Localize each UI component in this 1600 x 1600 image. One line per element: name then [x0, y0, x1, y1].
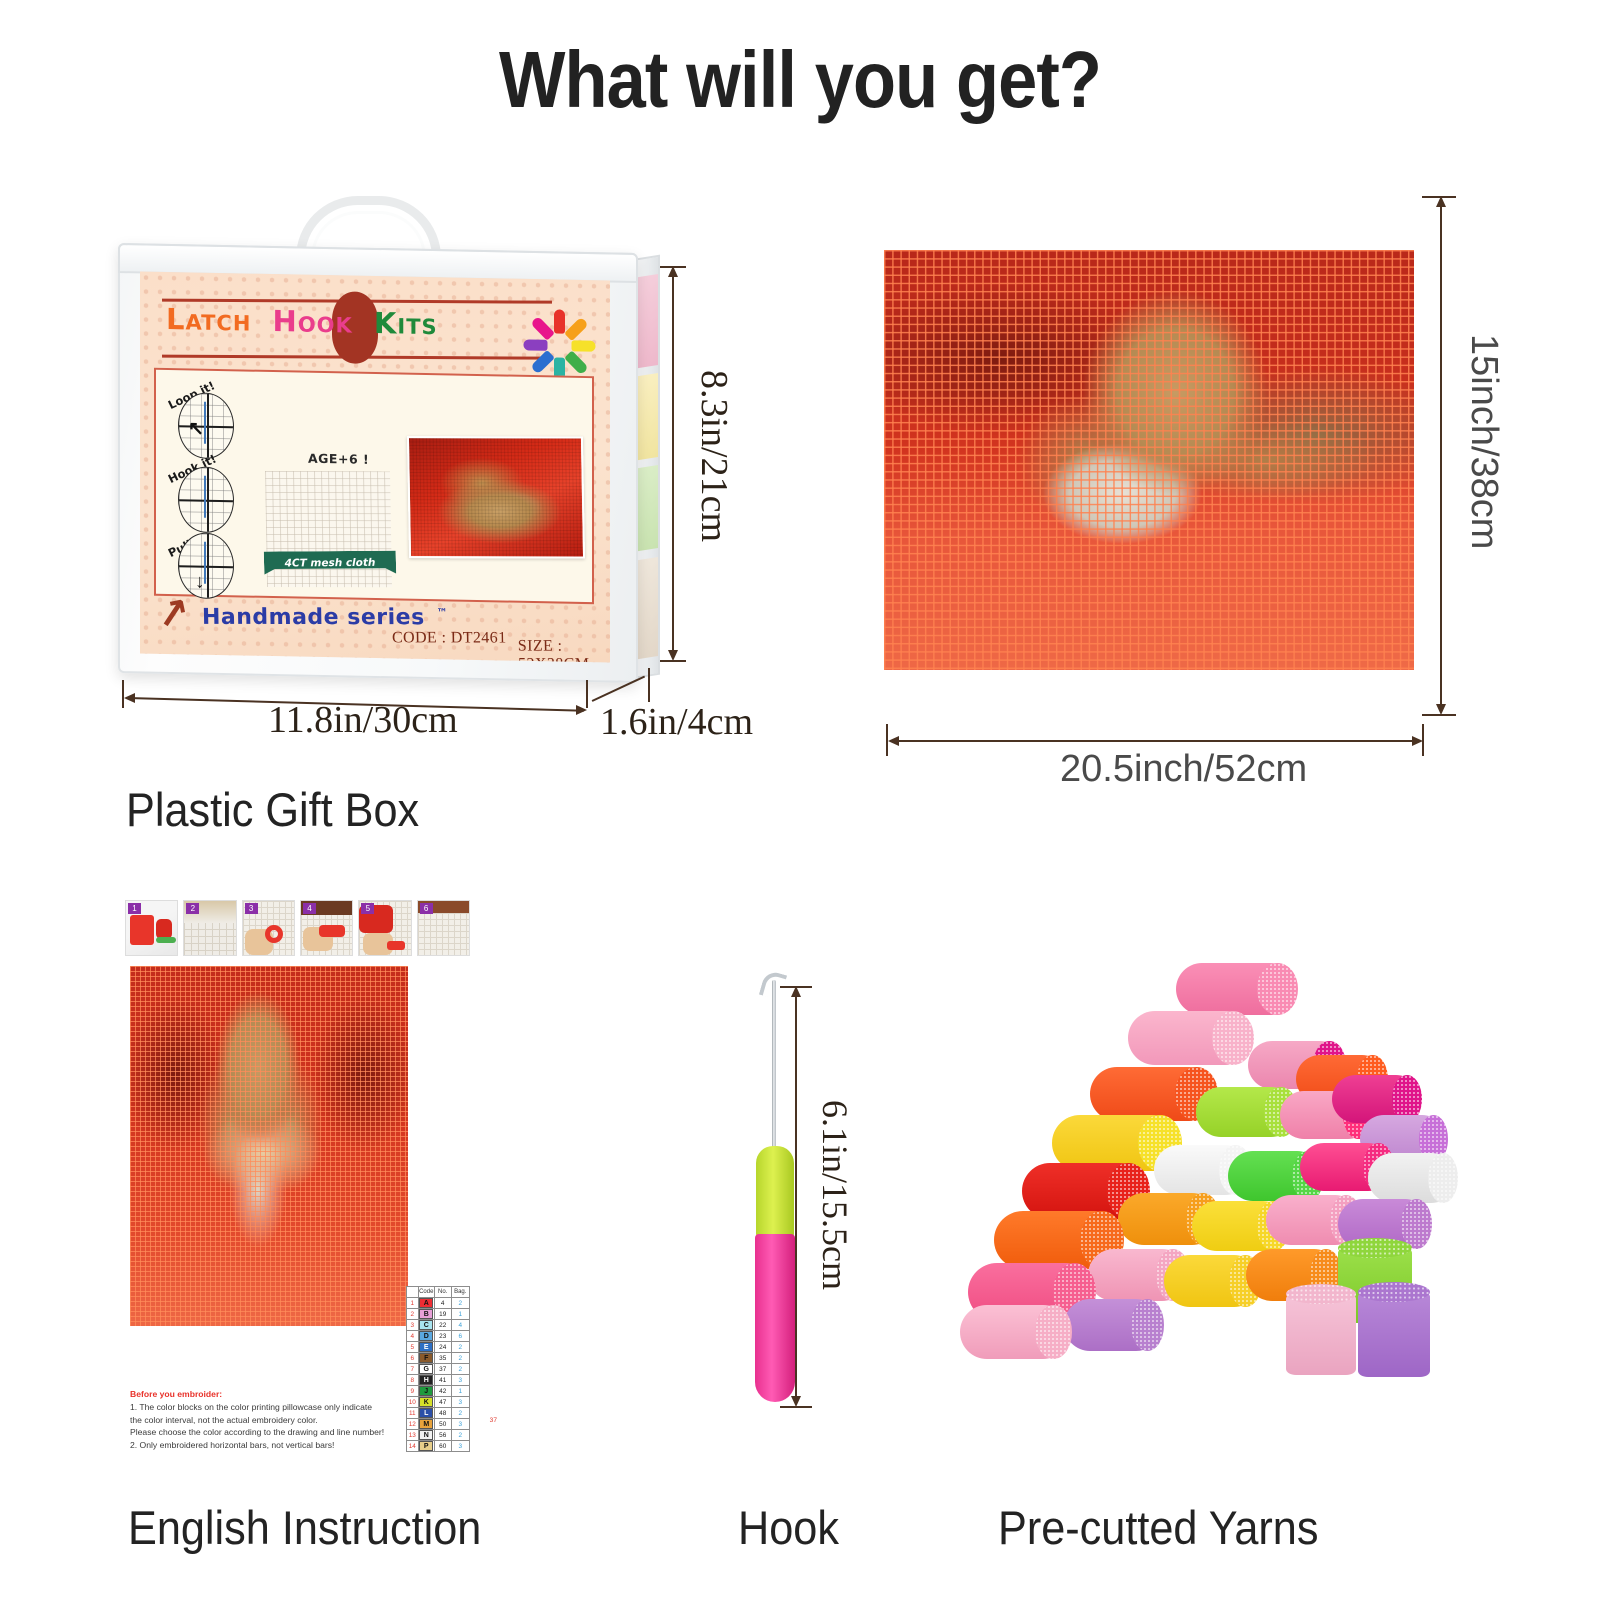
note-header: Before you embroider: [130, 1388, 410, 1400]
header-bag: Bag. [451, 1287, 469, 1298]
hook-length-line [795, 990, 797, 1404]
color-swatch: C [419, 1320, 433, 1330]
instruction-color-chart [130, 966, 408, 1326]
hook-needle [772, 980, 776, 1152]
english-instruction-illustration: 1 2 3 4 5 [125, 900, 470, 1490]
cell-code-swatch: C [418, 1320, 434, 1331]
yarn-bundle-piece [1368, 1153, 1456, 1203]
table-row: 14P603 [407, 1441, 470, 1452]
cell-number: 56 [434, 1430, 451, 1441]
note-line-3: Please choose the color according to the… [130, 1427, 384, 1437]
table-row: 1A42 [407, 1298, 470, 1309]
instruction-thumbnail-strip: 1 2 3 4 5 [125, 900, 470, 956]
age-rating-label: AGE+6 ! [308, 451, 369, 467]
cell-index: 2 [407, 1309, 419, 1320]
thumbnail-number: 1 [128, 903, 141, 914]
cell-number: 60 [434, 1441, 451, 1452]
color-swatch: D [419, 1331, 433, 1341]
cell-code-swatch: K [418, 1397, 434, 1408]
table-row: 10K473 [407, 1397, 470, 1408]
color-code-table: Code No. Bag. 1A422B1913C2244D2365E2426F… [406, 1286, 470, 1452]
cell-number: 24 [434, 1342, 451, 1353]
canvas-height-arrow-down [1436, 704, 1446, 715]
table-row: 8H413 [407, 1375, 470, 1386]
cell-code-swatch: J [418, 1386, 434, 1397]
hook-length-arrow-down [791, 1396, 801, 1407]
caption-hook: Hook [738, 1500, 839, 1555]
canvas-pixel-art [884, 250, 1414, 670]
cell-index: 7 [407, 1364, 419, 1375]
canvas-height-arrow-up [1436, 196, 1446, 207]
color-swatch: A [419, 1298, 433, 1308]
color-swatch: B [419, 1309, 433, 1319]
cell-index: 3 [407, 1320, 419, 1331]
finished-rug-photo [407, 436, 585, 558]
thumbnail-number: 6 [420, 903, 433, 914]
cell-number: 47 [434, 1397, 451, 1408]
box-height-line [672, 270, 674, 658]
step-diagram-hook [178, 466, 234, 533]
instruction-thumbnail: 3 [242, 900, 295, 956]
color-swatch: P [419, 1441, 433, 1451]
handmade-series-text: Handmade series [202, 605, 425, 630]
canvas-height-line [1440, 200, 1442, 712]
cell-bag: 2 [451, 1430, 469, 1441]
box-instruction-panel: Loop it! ↖ Hook it! Pull! ↓ AGE+6 ! 4CT [154, 368, 594, 604]
pinwheel-logo-icon [528, 303, 590, 366]
color-swatch: N [419, 1430, 433, 1440]
color-swatch: J [419, 1386, 433, 1396]
note-line-4: 2. Only embroidered horizontal bars, not… [130, 1440, 334, 1450]
color-swatch: F [419, 1353, 433, 1363]
hook-handle-upper [756, 1146, 794, 1238]
product-code-label: CODE : DT2461 [392, 629, 507, 647]
box-width-arrow-right [576, 705, 587, 715]
yarn-bundle-piece [1128, 1011, 1252, 1065]
box-height-arrow-up [668, 266, 678, 277]
yarn-bundle-upright [1286, 1293, 1356, 1375]
cell-code-swatch: B [418, 1309, 434, 1320]
instruction-thumbnail: 5 [358, 900, 411, 956]
cell-number: 4 [434, 1298, 451, 1309]
yarn-bundle-piece [1064, 1299, 1162, 1351]
color-swatch: G [419, 1364, 433, 1374]
brand-word3-rest: ITS [397, 314, 437, 339]
cell-code-swatch: H [418, 1375, 434, 1386]
color-swatch: H [419, 1375, 433, 1385]
cell-bag: 1 [451, 1386, 469, 1397]
cell-bag: 2 [451, 1353, 469, 1364]
cell-bag: 2 [451, 1342, 469, 1353]
thumbnail-number: 2 [186, 903, 199, 914]
table-row: 6F352 [407, 1353, 470, 1364]
color-swatch: E [419, 1342, 433, 1352]
yarn-bundle-piece [1164, 1255, 1260, 1307]
table-row: 9J421 [407, 1386, 470, 1397]
instruction-thumbnail: 4 [300, 900, 353, 956]
page-title: What will you get? [96, 34, 1504, 126]
cell-code-swatch: A [418, 1298, 434, 1309]
yarn-bundle-piece [960, 1305, 1070, 1359]
table-row: 13N562 [407, 1430, 470, 1441]
cell-number: 22 [434, 1320, 451, 1331]
box-height-arrow-down [668, 650, 678, 661]
cell-code-swatch: F [418, 1353, 434, 1364]
caption-english-instruction: English Instruction [128, 1500, 481, 1555]
product-size-label: SIZE : 52X38CM [518, 638, 610, 663]
table-row: 7G372 [407, 1364, 470, 1375]
cell-number: 35 [434, 1353, 451, 1364]
thumbnail-number: 3 [245, 903, 258, 914]
canvas-width-line [892, 740, 1420, 742]
yarn-bundle-upright [1358, 1291, 1430, 1377]
cell-bag: 4 [451, 1320, 469, 1331]
cell-bag: 3 [451, 1375, 469, 1386]
table-row: 2B191 [407, 1309, 470, 1320]
thumbnail-number: 4 [303, 903, 316, 914]
table-header-row: Code No. Bag. [407, 1287, 470, 1298]
cell-number: 19 [434, 1309, 451, 1320]
cell-bag: 1 [451, 1309, 469, 1320]
handmade-series-label: Handmade series™ [202, 605, 449, 630]
gift-box-illustration: LATCH HOOK KITS Loop it! ↖ [118, 196, 663, 696]
table-row: 5E242 [407, 1342, 470, 1353]
caption-pre-cutted-yarns: Pre-cutted Yarns [998, 1500, 1318, 1555]
cell-code-swatch: D [418, 1331, 434, 1342]
color-table-total: 37 [406, 1417, 497, 1424]
hook-handle-lower [755, 1234, 795, 1402]
caption-plastic-gift-box: Plastic Gift Box [126, 782, 419, 837]
trademark-mark: ™ [436, 606, 448, 619]
box-depth-tick [648, 668, 650, 702]
instruction-thumbnail: 2 [183, 900, 236, 956]
cell-bag: 3 [451, 1441, 469, 1452]
box-height-dimension-label: 8.3in/21cm [692, 370, 736, 542]
box-brand-header: LATCH HOOK KITS [154, 290, 594, 370]
cell-index: 6 [407, 1353, 419, 1364]
cell-number: 37 [434, 1364, 451, 1375]
printed-canvas-illustration [884, 250, 1414, 670]
instruction-thumbnail: 1 [125, 900, 178, 956]
cell-index: 1 [407, 1298, 419, 1309]
pre-cutted-yarns-illustration [960, 955, 1480, 1455]
cell-number: 23 [434, 1331, 451, 1342]
step-diagram-loop: ↖ [178, 392, 234, 459]
hook-length-dimension-label: 6.1in/15.5cm [814, 1100, 856, 1290]
table-row: 4D236 [407, 1331, 470, 1342]
cell-code-swatch: G [418, 1364, 434, 1375]
box-printed-label: LATCH HOOK KITS Loop it! ↖ [140, 271, 610, 662]
cell-code-swatch: P [418, 1441, 434, 1452]
thumbnail-number: 5 [361, 903, 374, 914]
canvas-width-arrow-left [888, 736, 899, 746]
cell-number: 41 [434, 1375, 451, 1386]
cell-number: 42 [434, 1386, 451, 1397]
mesh-cloth-swatch [265, 471, 392, 587]
table-row: 3C224 [407, 1320, 470, 1331]
before-you-embroider-note: Before you embroider: 1. The color block… [130, 1388, 410, 1451]
hook-length-arrow-up [791, 986, 801, 997]
header-index [407, 1287, 419, 1298]
box-depth-dimension-label: 1.6in/4cm [600, 700, 753, 744]
box-width-tick-right [586, 680, 588, 708]
canvas-width-arrow-right [1412, 736, 1423, 746]
header-no: No. [434, 1287, 451, 1298]
brand-title: LATCH HOOK KITS [166, 302, 438, 341]
instruction-thumbnail: 6 [417, 900, 470, 956]
note-line-2: the color interval, not the actual embro… [130, 1415, 318, 1425]
cell-index: 5 [407, 1342, 419, 1353]
cell-index: 4 [407, 1331, 419, 1342]
cell-bag: 2 [451, 1298, 469, 1309]
canvas-width-dimension-label: 20.5inch/52cm [1060, 748, 1307, 791]
box-width-dimension-label: 11.8in/30cm [268, 698, 458, 742]
color-swatch: K [419, 1397, 433, 1407]
canvas-height-dimension-label: 15inch/38cm [1462, 334, 1505, 549]
cell-code-swatch: N [418, 1430, 434, 1441]
zigzag-decoration-icon: ↗ [152, 586, 206, 636]
cell-index: 8 [407, 1375, 419, 1386]
yarn-bundle-piece [1176, 963, 1296, 1015]
cell-bag: 3 [451, 1397, 469, 1408]
note-line-1: 1. The color blocks on the color printin… [130, 1402, 372, 1412]
cell-code-swatch: E [418, 1342, 434, 1353]
brand-word2-rest: OOK [298, 313, 353, 338]
cell-bag: 6 [451, 1331, 469, 1342]
box-width-arrow-left [124, 693, 135, 703]
header-code: Code [418, 1287, 434, 1298]
brand-word1-rest: ATCH [185, 310, 251, 335]
cell-bag: 2 [451, 1364, 469, 1375]
